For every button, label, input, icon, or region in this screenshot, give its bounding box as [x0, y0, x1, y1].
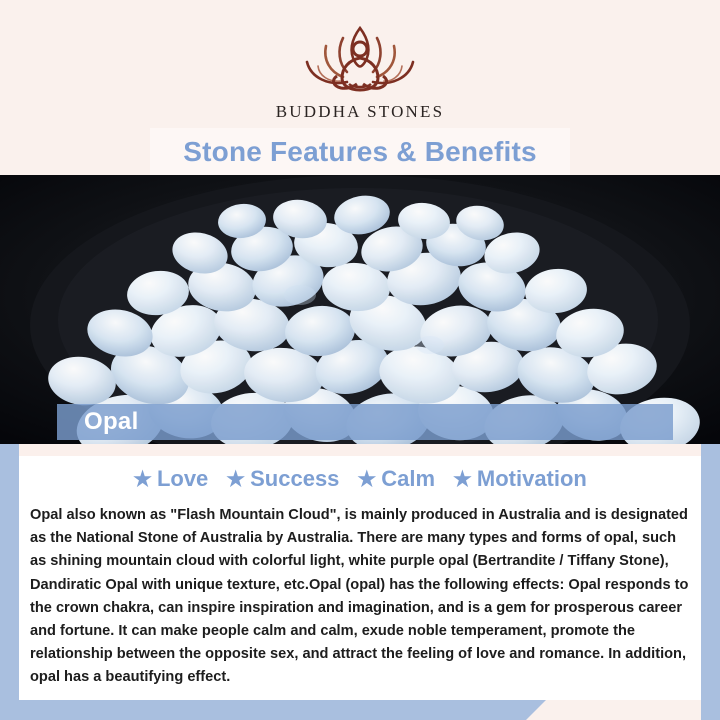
content-divider [19, 444, 701, 456]
benefit-label: Love [157, 466, 208, 492]
brand-wordmark: BUDDHA STONES [276, 102, 445, 122]
star-icon: ★ [357, 469, 376, 490]
star-icon: ★ [453, 469, 472, 490]
star-icon: ★ [226, 469, 245, 490]
benefit-item-success: ★ Success [226, 466, 339, 492]
lotus-meditation-icon [285, 22, 435, 100]
benefit-item-motivation: ★ Motivation [453, 466, 587, 492]
brand-logo: BUDDHA STONES [0, 22, 720, 122]
stone-description: Opal also known as "Flash Mountain Cloud… [30, 504, 692, 690]
benefits-row: ★ Love ★ Success ★ Calm ★ Motivation [19, 466, 701, 492]
benefit-label: Motivation [477, 466, 587, 492]
benefit-item-calm: ★ Calm [357, 466, 435, 492]
benefit-label: Success [250, 466, 339, 492]
title-card: Stone Features & Benefits [150, 128, 570, 175]
benefit-label: Calm [381, 466, 435, 492]
star-icon: ★ [133, 469, 152, 490]
page-title: Stone Features & Benefits [183, 136, 537, 168]
benefit-item-love: ★ Love [133, 466, 208, 492]
stone-caption-bar: Opal [57, 404, 673, 440]
stone-name: Opal [84, 408, 139, 436]
decorative-band-left [0, 434, 19, 700]
decorative-band-bottom [0, 700, 546, 720]
content-panel: ★ Love ★ Success ★ Calm ★ Motivation Opa… [19, 444, 701, 700]
infographic-page: BUDDHA STONES Stone Features & Benefits [0, 0, 720, 720]
